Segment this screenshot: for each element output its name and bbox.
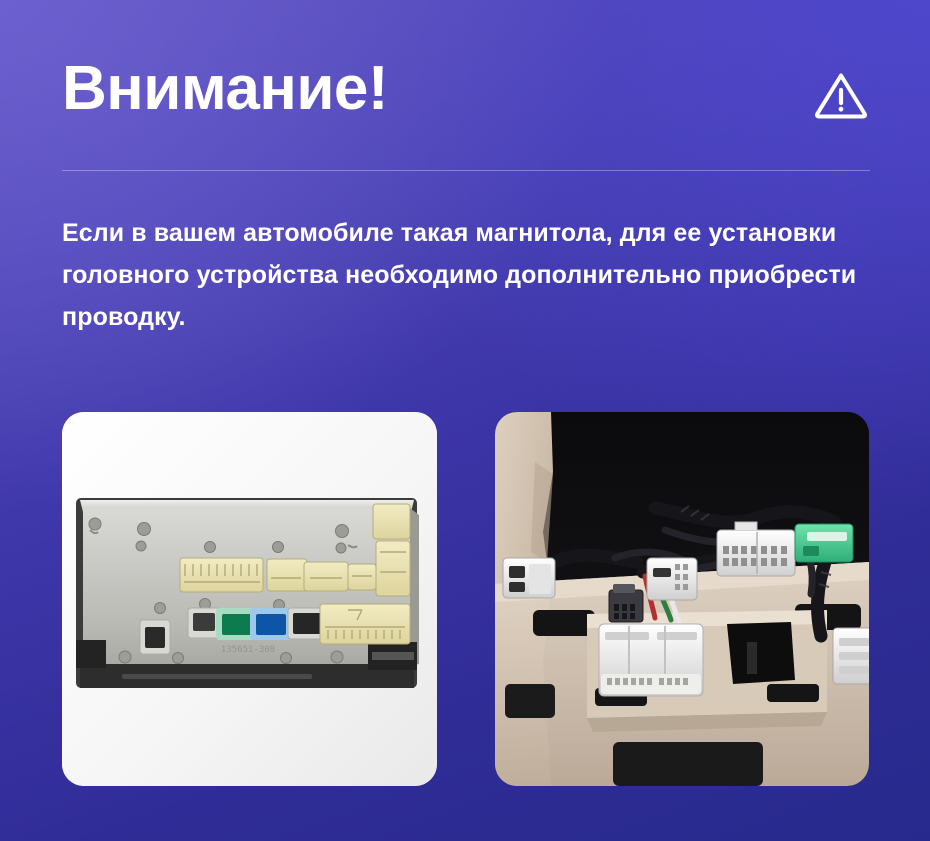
header-divider <box>62 170 870 171</box>
banner-body-text: Если в вашем автомобиле такая магнитола,… <box>62 212 874 338</box>
car-head-unit-rear-photo: 135651-308 <box>62 412 437 786</box>
svg-text:135651-308: 135651-308 <box>221 645 275 655</box>
warning-banner: Внимание! Если в вашем автомобиле такая … <box>0 0 930 841</box>
banner-header: Внимание! <box>62 52 870 130</box>
dashboard-wiring-harness-photo <box>495 412 869 786</box>
page-title: Внимание! <box>62 52 388 126</box>
warning-triangle-icon <box>814 68 868 122</box>
